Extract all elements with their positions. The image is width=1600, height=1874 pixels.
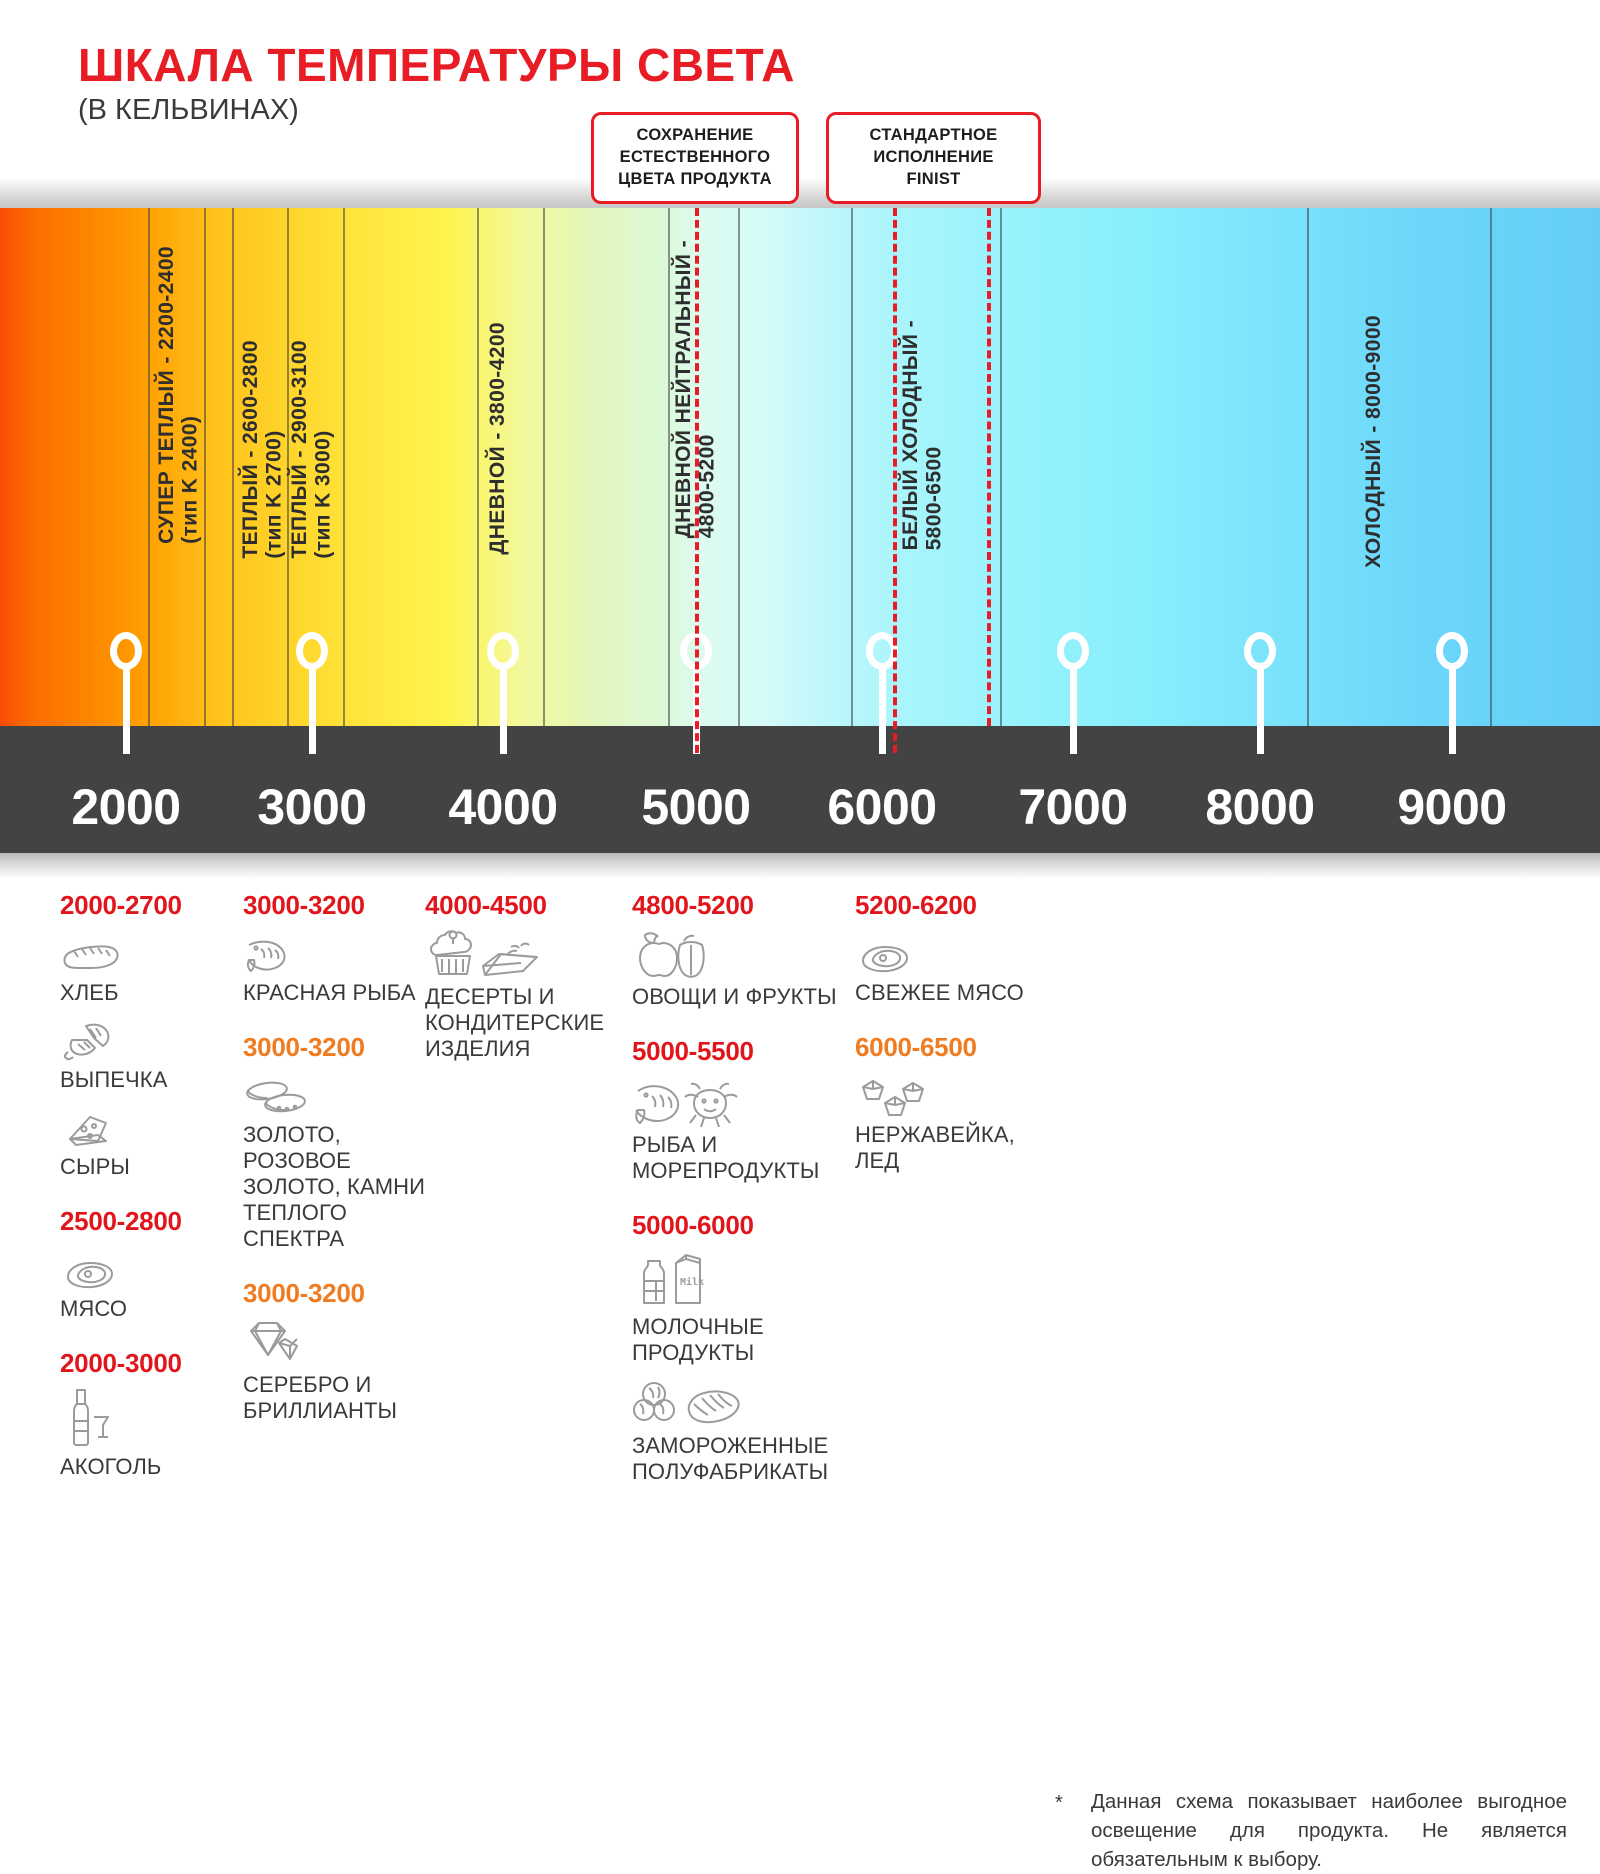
range-label: 3000-3200 — [243, 890, 433, 921]
scale-top-shadow — [0, 178, 1600, 208]
legend-item-label: МЯСО — [60, 1296, 245, 1322]
tick-label-8000: 8000 — [1160, 778, 1360, 836]
tick-label-6000: 6000 — [782, 778, 982, 836]
callout-standard-line1: СТАНДАРТНОЕ — [841, 125, 1026, 147]
band-divider — [204, 208, 206, 726]
callout-natural-pointer — [695, 208, 699, 753]
band-divider — [1307, 208, 1309, 726]
band-divider — [738, 208, 740, 726]
legend-item: РЫБА И МОРЕПРОДУКТЫ — [632, 1075, 857, 1184]
legend-item: НЕРЖАВЕЙКА, ЛЕД — [855, 1071, 1040, 1174]
fish-crab-icon — [632, 1075, 857, 1127]
band-label-warm-3000: ТЕПЛЫЙ - 2900-3100(тип K 3000) — [288, 340, 335, 559]
page-title: ШКАЛА ТЕМПЕРАТУРЫ СВЕТА — [78, 38, 795, 92]
footnote-text: Данная схема показывает наиболее выгодно… — [1091, 1787, 1567, 1874]
legend-item: ЗОЛОТО, РОЗОВОЕ ЗОЛОТО, КАМНИ ТЕПЛОГО СП… — [243, 1071, 433, 1252]
legend-item-label: ВЫПЕЧКА — [60, 1067, 245, 1093]
milk-icon: Milk — [632, 1249, 857, 1309]
callout-standard-line2: ИСПОЛНЕНИЕ — [841, 147, 1026, 169]
legend-group: 3000-3200 КРАСНАЯ РЫБА — [243, 890, 433, 1006]
range-label: 5200-6200 — [855, 890, 1040, 921]
tick-label-4000: 4000 — [403, 778, 603, 836]
legend-item-label: МОЛОЧНЫЕ ПРОДУКТЫ — [632, 1314, 857, 1366]
legend-group: 2000-3000 АКОГОЛЬ — [60, 1348, 245, 1480]
alcohol-icon — [60, 1387, 245, 1449]
range-label: 2500-2800 — [60, 1206, 245, 1237]
legend-item: КРАСНАЯ РЫБА — [243, 929, 433, 1006]
scale-pin-8000 — [1244, 632, 1276, 670]
legend-group: 3000-3200 ЗОЛОТО, РОЗОВОЕ ЗОЛОТО, КАМНИ … — [243, 1032, 433, 1252]
scale-pin-3000 — [296, 632, 328, 670]
legend-column-1: 2000-2700 ХЛЕБ ВЫПЕЧКА СЫРЫ 250 — [60, 890, 245, 1506]
legend-group: 5000-6000 Milk МОЛОЧНЫЕ ПРОДУКТЫ ЗАМОРОЖ… — [632, 1210, 857, 1485]
legend-item-label: ДЕСЕРТЫ И КОНДИТЕРСКИЕ ИЗДЕЛИЯ — [425, 984, 625, 1062]
ice-cubes-icon — [855, 1071, 1040, 1117]
legend-item-label: НЕРЖАВЕЙКА, ЛЕД — [855, 1122, 1040, 1174]
scale-pin-9000 — [1436, 632, 1468, 670]
band-divider — [343, 208, 345, 726]
band-divider — [851, 208, 853, 726]
tick-label-7000: 7000 — [973, 778, 1173, 836]
legend-item: ХЛЕБ — [60, 929, 245, 1006]
legend-column-5: 5200-6200 СВЕЖЕЕ МЯСО 6000-6500 НЕРЖАВЕЙ… — [855, 890, 1040, 1200]
legend-item-label: РЫБА И МОРЕПРОДУКТЫ — [632, 1132, 857, 1184]
rings-icon — [243, 1071, 433, 1117]
scale-pin-7000 — [1057, 632, 1089, 670]
croissant-icon — [60, 1016, 245, 1062]
band-divider — [232, 208, 234, 726]
callout-natural-line1: СОХРАНЕНИЕ — [606, 125, 784, 147]
legend-item: Milk МОЛОЧНЫЕ ПРОДУКТЫ — [632, 1249, 857, 1366]
scale-pin-2000 — [110, 632, 142, 670]
band-label-super-warm: СУПЕР ТЕПЛЫЙ - 2200-2400(тип K 2400) — [155, 246, 202, 544]
legend-item-label: ЗАМОРОЖЕННЫЕ ПОЛУФАБРИКАТЫ — [632, 1433, 857, 1485]
legend-group: 4000-4500 ДЕСЕРТЫ И КОНДИТЕРСКИЕ ИЗДЕЛИЯ — [425, 890, 625, 1062]
callout-natural-line3: ЦВЕТА ПРОДУКТА — [606, 169, 784, 191]
svg-text:Milk: Milk — [680, 1276, 704, 1288]
steak-icon — [60, 1245, 245, 1291]
band-divider — [1490, 208, 1492, 726]
callout-natural-color: СОХРАНЕНИЕ ЕСТЕСТВЕННОГО ЦВЕТА ПРОДУКТА — [591, 112, 799, 204]
legend-group: 5200-6200 СВЕЖЕЕ МЯСО — [855, 890, 1040, 1006]
legend-group: 2000-2700 ХЛЕБ ВЫПЕЧКА СЫРЫ — [60, 890, 245, 1180]
legend-item-label: ЗОЛОТО, РОЗОВОЕ ЗОЛОТО, КАМНИ ТЕПЛОГО СП… — [243, 1122, 433, 1252]
scale-bottom-shadow — [0, 853, 1600, 879]
scale-pin-4000 — [487, 632, 519, 670]
callout-standard-pointer-left — [893, 208, 897, 753]
legend-item-label: СВЕЖЕЕ МЯСО — [855, 980, 1040, 1006]
legend-item: СЕРЕБРО И БРИЛЛИАНТЫ — [243, 1317, 433, 1424]
legend-column-4: 4800-5200 ОВОЩИ И ФРУКТЫ 5000-5500 РЫБА … — [632, 890, 857, 1511]
tick-label-3000: 3000 — [212, 778, 412, 836]
range-label: 5000-6000 — [632, 1210, 857, 1241]
range-label: 4800-5200 — [632, 890, 857, 921]
range-label: 5000-5500 — [632, 1036, 857, 1067]
legend-item: ЗАМОРОЖЕННЫЕ ПОЛУФАБРИКАТЫ — [632, 1376, 857, 1485]
legend-item-label: СЫРЫ — [60, 1154, 245, 1180]
red-fish-icon — [243, 929, 433, 975]
tick-label-9000: 9000 — [1352, 778, 1552, 836]
range-label: 3000-3200 — [243, 1278, 433, 1309]
fruit-veg-icon — [632, 929, 857, 979]
band-label-daylight: ДНЕВНОЙ - 3800-4200 — [486, 322, 510, 555]
legend-item-label: ХЛЕБ — [60, 980, 245, 1006]
legend-item-label: КРАСНАЯ РЫБА — [243, 980, 433, 1006]
footnote-star: * — [1055, 1789, 1063, 1817]
tick-label-2000: 2000 — [26, 778, 226, 836]
legend-item: ОВОЩИ И ФРУКТЫ — [632, 929, 857, 1010]
legend-group: 2500-2800 МЯСО — [60, 1206, 245, 1322]
legend-item-label: СЕРЕБРО И БРИЛЛИАНТЫ — [243, 1372, 433, 1424]
bread-icon — [60, 929, 245, 975]
band-divider — [543, 208, 545, 726]
band-label-white-cold: БЕЛЫЙ ХОЛОДНЫЙ -5800-6500 — [899, 320, 946, 550]
cheese-icon — [60, 1103, 245, 1149]
legend-group: 5000-5500 РЫБА И МОРЕПРОДУКТЫ — [632, 1036, 857, 1184]
range-label: 3000-3200 — [243, 1032, 433, 1063]
legend-item: ВЫПЕЧКА — [60, 1016, 245, 1093]
band-divider — [1000, 208, 1002, 726]
range-label: 2000-3000 — [60, 1348, 245, 1379]
band-divider — [668, 208, 670, 726]
range-label: 4000-4500 — [425, 890, 625, 921]
legend-column-2: 3000-3200 КРАСНАЯ РЫБА 3000-3200 ЗОЛОТО,… — [243, 890, 433, 1450]
tick-label-5000: 5000 — [596, 778, 796, 836]
legend-item: СВЕЖЕЕ МЯСО — [855, 929, 1040, 1006]
page-subtitle: (В КЕЛЬВИНАХ) — [78, 94, 299, 127]
callout-natural-line2: ЕСТЕСТВЕННОГО — [606, 147, 784, 169]
header: ШКАЛА ТЕМПЕРАТУРЫ СВЕТА (В КЕЛЬВИНАХ) — [0, 0, 1600, 200]
fresh-meat-icon — [855, 929, 1040, 975]
legend-area: 2000-2700 ХЛЕБ ВЫПЕЧКА СЫРЫ 250 — [0, 890, 1600, 1600]
legend-column-3: 4000-4500 ДЕСЕРТЫ И КОНДИТЕРСКИЕ ИЗДЕЛИЯ — [425, 890, 625, 1088]
diamond-icon — [243, 1317, 433, 1367]
legend-group: 6000-6500 НЕРЖАВЕЙКА, ЛЕД — [855, 1032, 1040, 1174]
legend-item-label: ОВОЩИ И ФРУКТЫ — [632, 984, 857, 1010]
band-label-warm-2700: ТЕПЛЫЙ - 2600-2800(тип K 2700) — [239, 340, 286, 559]
legend-item: СЫРЫ — [60, 1103, 245, 1180]
band-divider — [148, 208, 150, 726]
footnote: * Данная схема показывает наиболее выгод… — [1055, 1787, 1567, 1874]
band-label-cold: ХОЛОДНЫЙ - 8000-9000 — [1362, 315, 1386, 568]
legend-item: МЯСО — [60, 1245, 245, 1322]
range-label: 2000-2700 — [60, 890, 245, 921]
frozen-food-icon — [632, 1376, 857, 1428]
legend-item-label: АКОГОЛЬ — [60, 1454, 245, 1480]
legend-group: 3000-3200 СЕРЕБРО И БРИЛЛИАНТЫ — [243, 1278, 433, 1424]
legend-item: ДЕСЕРТЫ И КОНДИТЕРСКИЕ ИЗДЕЛИЯ — [425, 929, 625, 1062]
callout-standard-line3: FINIST — [841, 169, 1026, 191]
callout-standard-pointer-right — [987, 208, 991, 726]
callout-standard-finist: СТАНДАРТНОЕ ИСПОЛНЕНИЕ FINIST — [826, 112, 1041, 204]
legend-group: 4800-5200 ОВОЩИ И ФРУКТЫ — [632, 890, 857, 1010]
range-label: 6000-6500 — [855, 1032, 1040, 1063]
band-divider — [477, 208, 479, 726]
dessert-icon — [425, 929, 625, 979]
legend-item: АКОГОЛЬ — [60, 1387, 245, 1480]
